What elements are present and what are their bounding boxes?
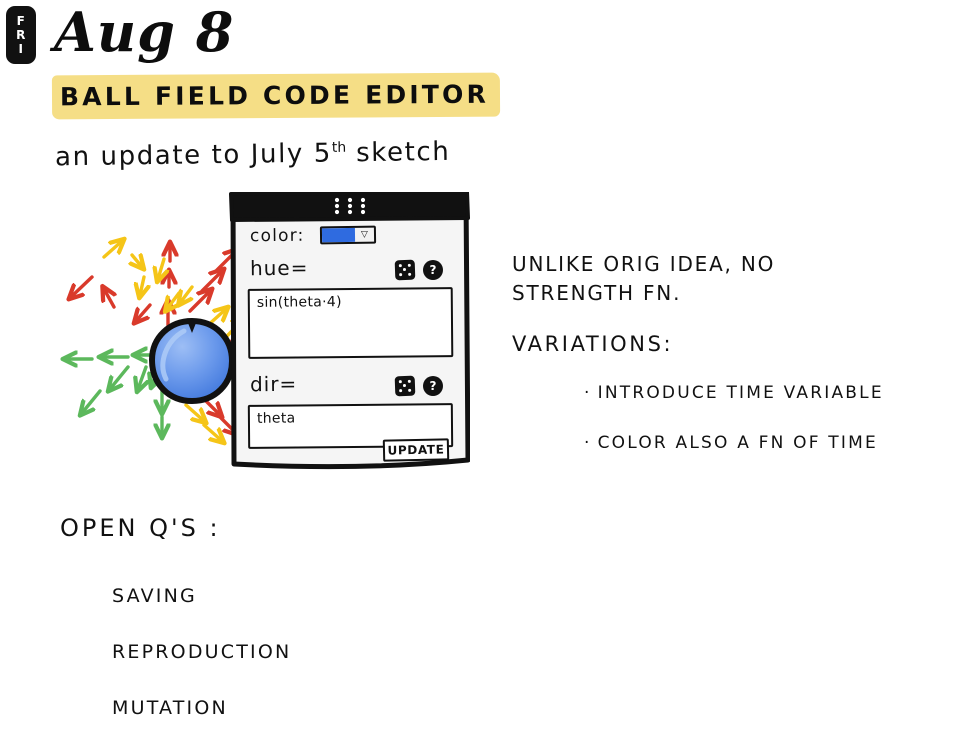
note-unlike-orig-idea: UNLIKE ORIG IDEA, NO STRENGTH FN. [512,250,775,308]
day-badge-letter-i: I [19,43,24,56]
list-item: ·INTRODUCE TIME VARIABLE [584,368,884,418]
chevron-down-icon: ▽ [355,228,374,242]
window-drag-handle-dots[interactable] [332,197,370,215]
note-unlike-line2: STRENGTH FN. [512,279,775,308]
subtitle-prefix: an update to July 5 [55,139,332,173]
hue-controls: ? [395,260,443,280]
day-badge-letter-r: R [16,29,26,42]
code-editor-window: color: ▽ hue= ? sin(theta·4) dir= ? thet… [228,192,470,470]
day-badge-letter-f: F [17,15,26,28]
subtitle-suffix: sketch [346,137,451,168]
variations-heading: VARIATIONS: [512,330,673,358]
subtitle: an update to July 5th sketch [55,129,451,174]
hue-label: hue= [250,256,309,281]
help-icon[interactable]: ? [423,376,443,396]
list-item: SAVING [112,568,291,624]
color-dropdown[interactable]: ▽ [320,226,376,245]
dir-controls: ? [395,376,443,396]
ball-shape [152,321,232,401]
dice-icon[interactable] [395,260,416,281]
list-item: ·COLOR ALSO A FN OF TIME [584,418,884,468]
hue-input[interactable]: sin(theta·4) [248,287,454,359]
dir-label: dir= [250,372,297,396]
help-icon[interactable]: ? [423,260,443,280]
open-questions-list: SAVING REPRODUCTION MUTATION [112,568,291,736]
note-unlike-line1: UNLIKE ORIG IDEA, NO [512,250,775,279]
subtitle-ordinal: th [332,140,347,156]
variations-list: ·INTRODUCE TIME VARIABLE ·COLOR ALSO A F… [584,368,884,468]
day-badge: F R I [6,6,36,64]
bullet-icon: · [584,383,592,403]
open-questions-heading: OPEN Q'S : [60,512,221,544]
page-title: Aug 8 [54,2,234,62]
list-item: REPRODUCTION [112,624,291,680]
color-swatch [322,228,355,242]
dice-icon[interactable] [395,376,416,397]
color-label: color: [250,226,305,247]
list-item: MUTATION [112,680,291,736]
update-button[interactable]: UPDATE [383,438,449,461]
title-band-text: BALL FIELD CODE EDITOR [60,79,500,114]
bullet-icon: · [584,433,592,453]
list-item-label: COLOR ALSO A FN OF TIME [598,433,878,453]
list-item-label: INTRODUCE TIME VARIABLE [598,383,884,403]
